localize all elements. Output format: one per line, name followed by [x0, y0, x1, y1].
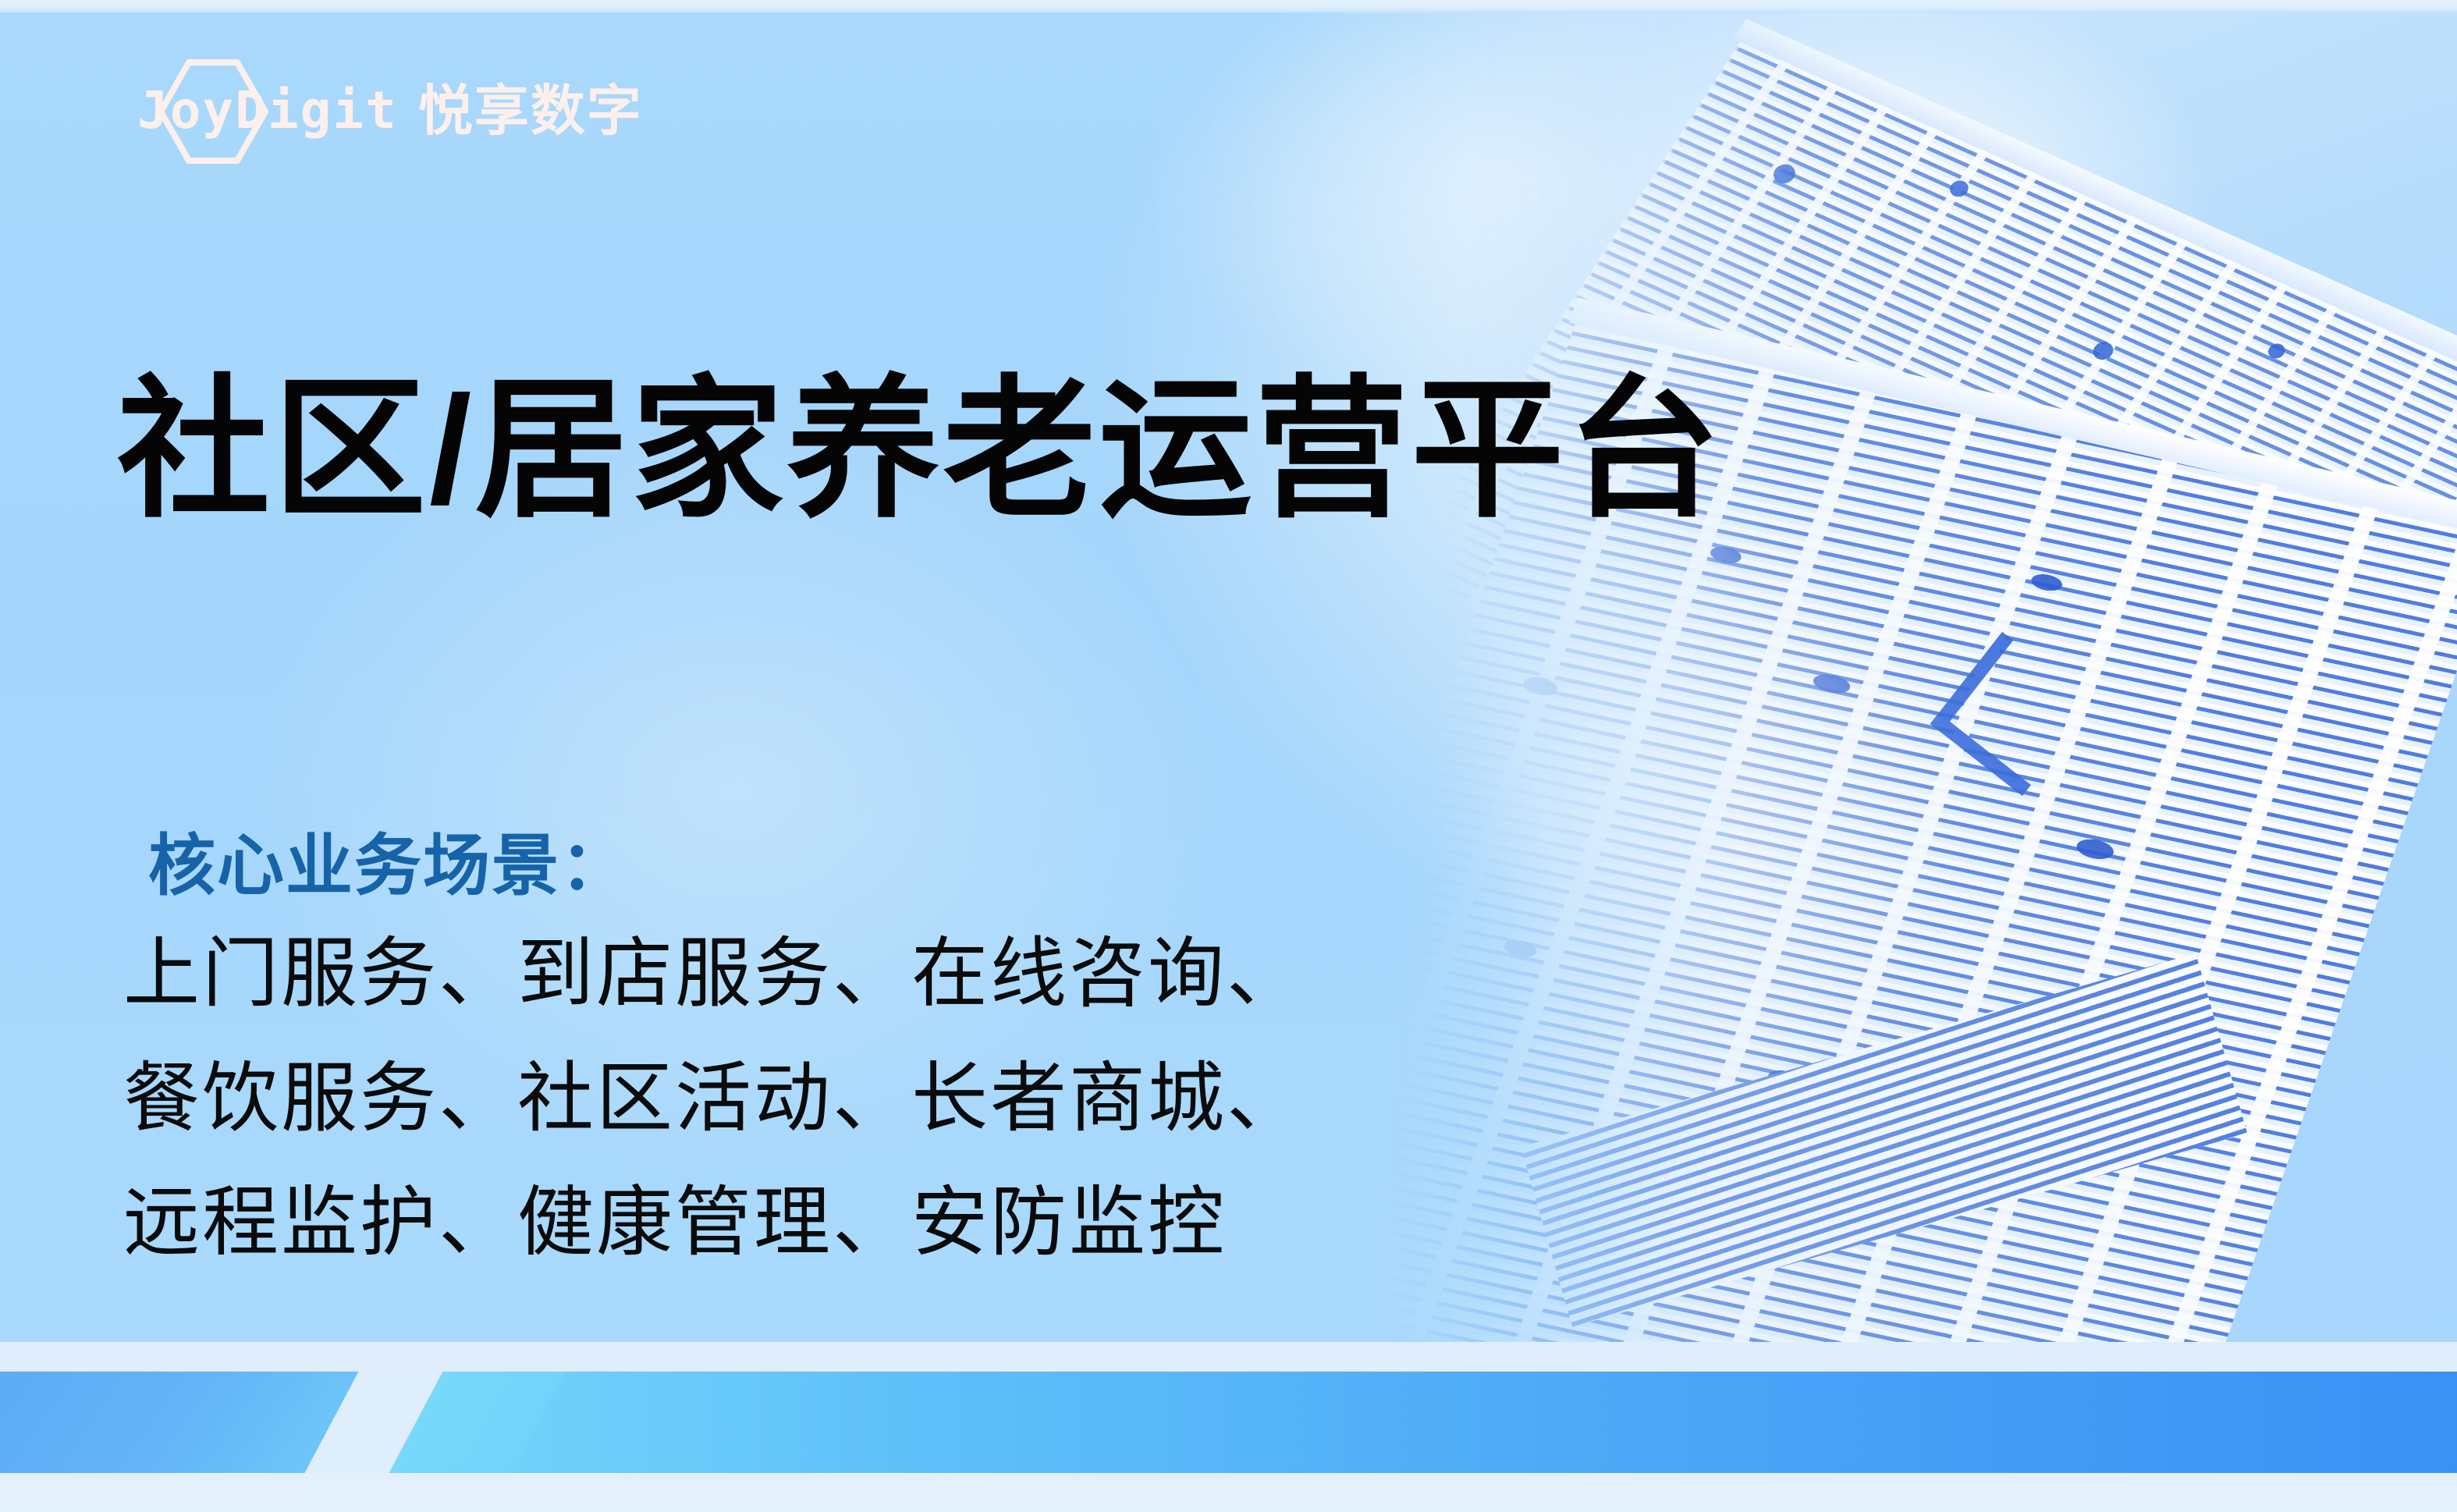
scenario-line: 上门服务、到店服务、在线咨询、 [123, 911, 1305, 1036]
page-title: 社区/居家养老运营平台 [117, 366, 1723, 534]
slide-root: JoyDigit 悦享数字 社区/居家养老运营平台 核心业务场景： 上门服务、到… [0, 0, 2457, 1512]
bottom-ribbon [0, 1342, 2457, 1512]
brand-name-en: JoyDigit [137, 85, 398, 137]
top-edge-strip [0, 0, 2457, 12]
scenario-list: 上门服务、到店服务、在线咨询、 餐饮服务、社区活动、长者商城、 远程监护、健康管… [123, 911, 1305, 1285]
brand-logo: JoyDigit 悦享数字 [137, 64, 643, 158]
scenario-line: 餐饮服务、社区活动、长者商城、 [123, 1036, 1305, 1161]
brand-name-cn: 悦享数字 [418, 83, 643, 138]
section-heading: 核心业务场景： [148, 826, 629, 907]
ribbon-right-bar [421, 1372, 2457, 1473]
skyscraper-photo [1380, 0, 2457, 1404]
scenario-line: 远程监护、健康管理、安防监控 [123, 1160, 1305, 1285]
